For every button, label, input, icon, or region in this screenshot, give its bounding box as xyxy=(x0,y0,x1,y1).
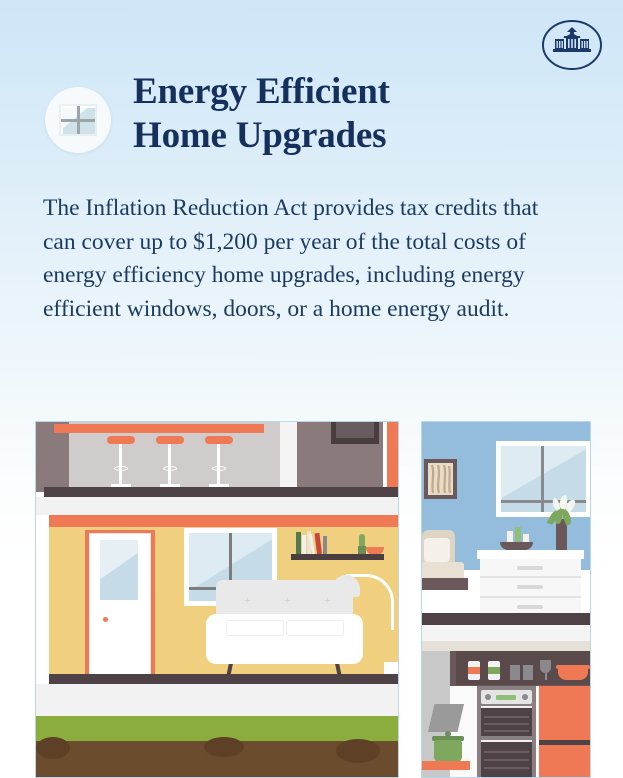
refrigerator-upper xyxy=(539,686,591,740)
bedroom-floor xyxy=(422,613,590,625)
oven-door-line xyxy=(484,751,529,753)
bed-base xyxy=(422,578,468,590)
page-title-line-1: Energy Efficient xyxy=(133,70,563,114)
oven-door-line xyxy=(484,759,529,761)
dresser-seam xyxy=(480,596,581,598)
upper-floor xyxy=(44,487,399,497)
white-house-seal-svg xyxy=(541,19,603,71)
living-room-floor xyxy=(49,674,399,684)
oven-door-line xyxy=(484,767,529,769)
oven-door-line xyxy=(484,716,529,718)
oven-door-line xyxy=(484,723,529,725)
candle xyxy=(515,527,521,543)
dresser-seam xyxy=(480,576,581,578)
drawer-handle xyxy=(517,605,543,609)
white-house-seal xyxy=(541,19,603,71)
framed-art-pattern xyxy=(428,463,453,495)
wall-tv-screen xyxy=(336,422,374,438)
foundation-band xyxy=(36,684,398,716)
bedroom-kitchen-illustration xyxy=(421,421,591,778)
drawer-handle xyxy=(517,585,543,589)
house-interior-illustration: + + + xyxy=(35,421,399,778)
stove-top xyxy=(422,761,470,770)
soil-bump xyxy=(36,737,70,759)
oven-knob xyxy=(522,694,528,700)
bed-pillow xyxy=(424,538,450,562)
pan xyxy=(558,668,588,680)
oven-knob xyxy=(485,694,491,700)
page-header: Energy Efficient Home Upgrades xyxy=(0,70,623,170)
bar-counter xyxy=(54,424,264,433)
sofa-cushion xyxy=(286,620,344,636)
oven-door-line xyxy=(484,730,529,732)
illustration-row: + + + xyxy=(0,421,623,778)
oven-display xyxy=(496,695,516,700)
bookshelf xyxy=(291,554,384,560)
front-door-knob xyxy=(103,617,108,622)
decor-tray xyxy=(500,542,533,550)
dresser-top xyxy=(477,550,584,559)
floor-lamp-base xyxy=(384,662,398,674)
page-title-line-2: Home Upgrades xyxy=(133,114,563,158)
page-title: Energy Efficient Home Upgrades xyxy=(133,70,563,158)
bar-stool xyxy=(107,436,135,488)
bookshelf-books xyxy=(296,530,330,554)
window-icon xyxy=(59,104,97,136)
bar-stool xyxy=(205,436,233,488)
cooking-pot xyxy=(434,740,462,762)
kitchen-ceiling xyxy=(422,641,590,651)
cabinet-shelf xyxy=(456,680,591,685)
living-room-ceiling xyxy=(49,515,399,527)
refrigerator-lower xyxy=(539,745,591,778)
upper-accent-wall xyxy=(387,422,399,492)
drawer-handle xyxy=(517,566,543,570)
soil-bump xyxy=(336,739,380,763)
upper-wall-divider xyxy=(280,422,297,492)
window-icon-badge xyxy=(45,87,111,153)
spice-jar-label xyxy=(488,667,500,674)
bar-stool xyxy=(156,436,184,488)
spice-jar-label xyxy=(468,667,480,674)
body-paragraph: The Inflation Reduction Act provides tax… xyxy=(43,192,543,326)
framed-art-canvas xyxy=(428,463,453,495)
soil-bump xyxy=(204,737,244,757)
floor-gap xyxy=(36,497,398,515)
front-door-glare xyxy=(100,540,138,600)
drinking-cup xyxy=(510,665,520,681)
vase-plant xyxy=(544,494,580,524)
drinking-cup xyxy=(523,665,533,681)
sofa-cushion xyxy=(226,620,284,636)
